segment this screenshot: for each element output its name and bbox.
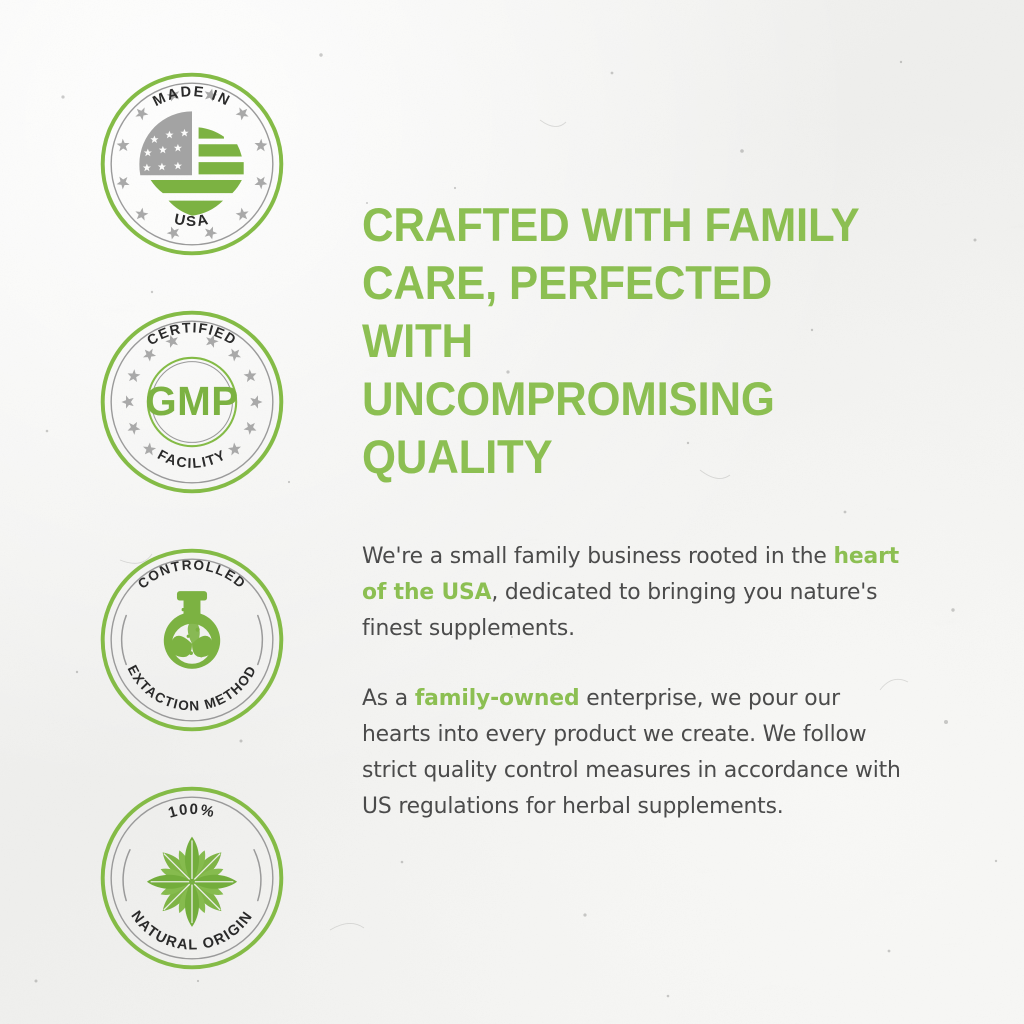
badge-gmp-certified-facility: GMP CERTIFIED FACILITY CERTIFIED GMP FAC… <box>98 308 286 496</box>
paragraph-1: We're a small family business rooted in … <box>362 538 905 646</box>
gmp-seal-icon: GMP <box>145 378 238 424</box>
svg-text:100%: 100% <box>166 801 217 822</box>
flask-inner-leaves <box>170 619 214 666</box>
paragraph-2: As a family-owned enterprise, we pour ou… <box>362 680 905 824</box>
svg-text:CERTIFIED: CERTIFIED <box>144 319 240 348</box>
content-column: Crafted with family care, perfected with… <box>362 196 922 824</box>
page-title: Crafted with family care, perfected with… <box>362 196 883 486</box>
svg-text:FACILITY: FACILITY <box>155 446 229 471</box>
p2-seg-1: As a <box>362 685 415 711</box>
body-copy: We're a small family business rooted in … <box>362 538 922 824</box>
leaf-rosette-icon <box>147 837 237 927</box>
p2-highlight-family-owned: family-owned <box>415 685 580 711</box>
p1-seg-1: We're a small family business rooted in … <box>362 543 833 569</box>
badge-natural-origin: 100% NATURAL ORIGIN 100% NATURAL ORIGIN <box>98 784 286 972</box>
badge-controlled-extraction-method: CONTROLLED EXTACTION METHOD CONTROLLED E… <box>98 546 286 734</box>
badge-made-in-usa: MADE IN USA MADE IN USA <box>98 70 286 258</box>
svg-text:CONTROLLED: CONTROLLED <box>135 557 249 591</box>
certification-badge-column: MADE IN USA MADE IN USA <box>98 70 288 1022</box>
promo-graphic-canvas: MADE IN USA MADE IN USA <box>0 0 1024 1024</box>
usa-flag-circle-icon <box>139 111 243 215</box>
svg-text:USA: USA <box>173 211 212 230</box>
